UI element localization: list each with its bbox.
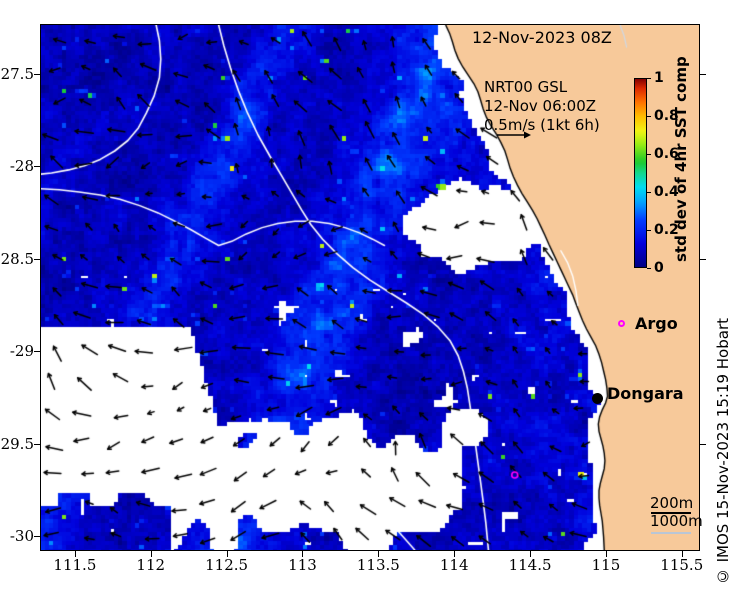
y-tick-label: -28 — [10, 157, 34, 175]
colorbar-tick — [647, 268, 651, 269]
figure-root: 111.5112112.5113113.5114114.5115115.5 -2… — [0, 0, 740, 592]
x-tick-label: 115.5 — [660, 556, 703, 574]
y-tick — [34, 351, 40, 352]
y-tick-right — [700, 259, 706, 260]
y-tick — [34, 444, 40, 445]
x-tick-label: 113.5 — [357, 556, 400, 574]
current-key-time: 12-Nov 06:00Z — [484, 97, 600, 116]
current-vector-arrow-icon — [497, 129, 531, 141]
current-key-product: NRT00 GSL — [484, 78, 600, 97]
timestamp-label: 12-Nov-2023 08Z — [472, 28, 612, 47]
dongara-town-label: Dongara — [607, 384, 684, 403]
map-plot-area — [40, 24, 700, 551]
copyright-notice: © IMOS 15-Nov-2023 15:19 Hobart — [714, 318, 732, 585]
x-tick-label: 112 — [136, 556, 165, 574]
y-tick-label: -30 — [10, 527, 34, 545]
colorbar-tick-label: 0 — [654, 260, 664, 276]
y-tick — [34, 74, 40, 75]
argo-marker-icon — [618, 320, 625, 327]
current-vector-key: NRT00 GSL 12-Nov 06:00Z 0.5m/s (1kt 6h) — [484, 78, 600, 135]
isobath-200-line-sample — [651, 512, 691, 514]
argo-legend-label: Argo — [635, 314, 678, 333]
x-tick-label: 112.5 — [205, 556, 248, 574]
y-tick-label: -29.5 — [0, 435, 34, 453]
dongara-town-marker-icon — [592, 393, 603, 404]
x-tick-label: 114.5 — [509, 556, 552, 574]
isobath-1000-label: 1000m — [650, 512, 703, 530]
x-tick-label: 111.5 — [53, 556, 96, 574]
colorbar-gradient — [634, 78, 647, 268]
colorbar-tick — [647, 192, 651, 193]
y-tick-label: -27.5 — [0, 65, 34, 83]
y-tick-label: -28.5 — [0, 250, 34, 268]
y-tick-right — [700, 74, 706, 75]
sst-stddev-heatmap — [41, 25, 699, 550]
colorbar-tick-label: 1 — [654, 70, 664, 86]
x-tick-label: 114 — [440, 556, 469, 574]
y-tick-label: -29 — [10, 342, 34, 360]
isobath-1000-line-sample — [651, 532, 691, 534]
x-tick-label: 115 — [592, 556, 621, 574]
colorbar-tick — [647, 154, 651, 155]
y-tick-right — [700, 444, 706, 445]
y-tick — [34, 536, 40, 537]
colorbar-tick — [647, 78, 651, 79]
colorbar-tick — [647, 116, 651, 117]
y-tick — [34, 259, 40, 260]
y-tick — [34, 166, 40, 167]
colorbar-title: std dev of 4hr SST comp — [672, 84, 690, 262]
x-tick-label: 113 — [288, 556, 317, 574]
isobath-200-label: 200m — [650, 494, 703, 512]
colorbar-tick — [647, 230, 651, 231]
